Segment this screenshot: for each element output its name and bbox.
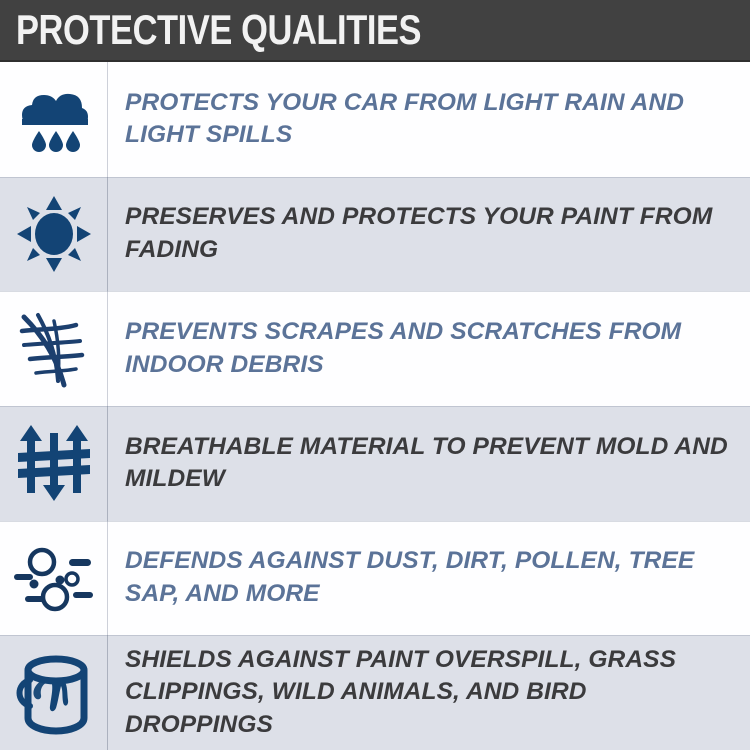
text-cell: BREATHABLE MATERIAL TO PREVENT MOLD AND … <box>107 406 750 521</box>
quality-text: PRESERVES AND PROTECTS YOUR PAINT FROM F… <box>125 201 732 266</box>
dust-particles-icon <box>12 540 96 616</box>
quality-text: SHIELDS AGAINST PAINT OVERSPILL, GRASS C… <box>125 644 732 742</box>
quality-text: BREATHABLE MATERIAL TO PREVENT MOLD AND … <box>125 431 732 496</box>
sun-icon <box>14 194 94 274</box>
qualities-list: PROTECTS YOUR CAR FROM LIGHT RAIN AND LI… <box>0 62 750 750</box>
list-item: PREVENTS SCRAPES AND SCRATCHES FROM INDO… <box>0 291 750 406</box>
page-title: PROTECTIVE QUALITIES <box>16 9 421 51</box>
list-item: PROTECTS YOUR CAR FROM LIGHT RAIN AND LI… <box>0 62 750 177</box>
quality-text: PREVENTS SCRAPES AND SCRATCHES FROM INDO… <box>125 316 732 381</box>
protective-qualities-infographic: PROTECTIVE QUALITIES PROTECTS YOUR CAR F… <box>0 0 750 750</box>
text-cell: PREVENTS SCRAPES AND SCRATCHES FROM INDO… <box>107 291 750 406</box>
icon-cell <box>0 291 107 406</box>
icon-cell <box>0 406 107 521</box>
quality-text: PROTECTS YOUR CAR FROM LIGHT RAIN AND LI… <box>125 87 732 152</box>
list-item: DEFENDS AGAINST DUST, DIRT, POLLEN, TREE… <box>0 521 750 636</box>
icon-cell <box>0 635 107 750</box>
rain-cloud-icon <box>14 79 94 159</box>
scratches-icon <box>14 307 94 391</box>
text-cell: PROTECTS YOUR CAR FROM LIGHT RAIN AND LI… <box>107 62 750 177</box>
header-bar: PROTECTIVE QUALITIES <box>0 0 750 62</box>
quality-text: DEFENDS AGAINST DUST, DIRT, POLLEN, TREE… <box>125 545 732 610</box>
breathable-arrows-icon <box>14 421 94 505</box>
list-item: BREATHABLE MATERIAL TO PREVENT MOLD AND … <box>0 406 750 521</box>
list-item: PRESERVES AND PROTECTS YOUR PAINT FROM F… <box>0 177 750 292</box>
icon-cell <box>0 62 107 177</box>
text-cell: PRESERVES AND PROTECTS YOUR PAINT FROM F… <box>107 177 750 292</box>
list-item: SHIELDS AGAINST PAINT OVERSPILL, GRASS C… <box>0 635 750 750</box>
paint-can-icon <box>12 650 96 736</box>
icon-cell <box>0 177 107 292</box>
icon-cell <box>0 521 107 636</box>
text-cell: SHIELDS AGAINST PAINT OVERSPILL, GRASS C… <box>107 635 750 750</box>
text-cell: DEFENDS AGAINST DUST, DIRT, POLLEN, TREE… <box>107 521 750 636</box>
